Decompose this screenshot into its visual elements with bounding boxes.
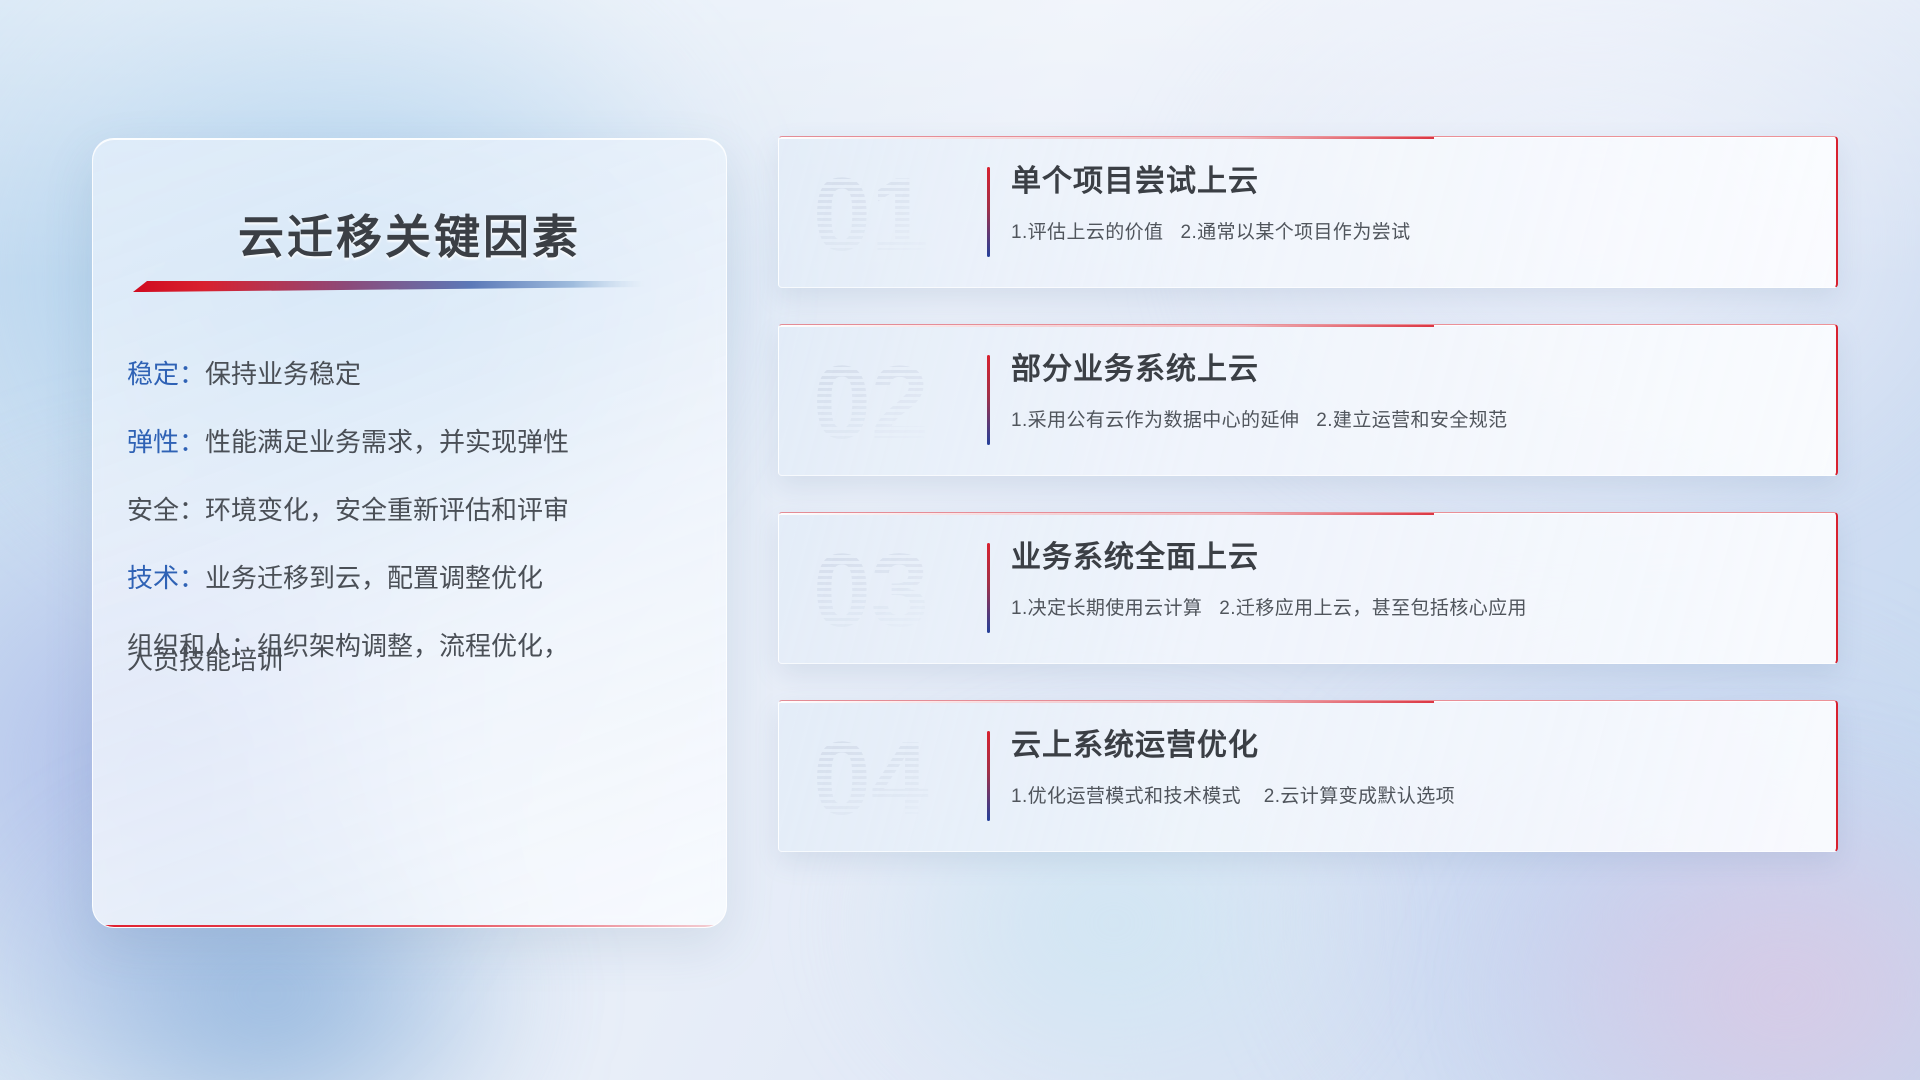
list-item: 稳定：保持业务稳定 <box>127 361 700 387</box>
title-accent-rule <box>133 281 645 292</box>
svg-text:03: 03 <box>813 534 929 642</box>
factor-label: 弹性： <box>127 427 205 457</box>
step-content: 业务系统全面上云 1.决定长期使用云计算 2.迁移应用上云，甚至包括核心应用 <box>1011 539 1796 620</box>
step-card-03[interactable]: 03 业务系统全面上云 1.决定长期使用云计算 2.迁移应用上云，甚至包括核心应… <box>778 512 1838 664</box>
step-heading: 业务系统全面上云 <box>1011 539 1796 577</box>
step-subtitle: 1.优化运营模式和技术模式 2.云计算变成默认选项 <box>1011 781 1796 808</box>
key-factor-list: 稳定：保持业务稳定 弹性：性能满足业务需求，并实现弹性 安全：环境变化，安全重新… <box>127 361 700 673</box>
key-factors-panel: 云迁移关键因素 稳定：保持业务稳定 <box>92 138 727 928</box>
step-divider <box>987 731 990 821</box>
factor-text: 业务迁移到云，配置调整优化 <box>205 563 543 593</box>
step-card-04[interactable]: 04 云上系统运营优化 1.优化运营模式和技术模式 2.云计算变成默认选项 <box>778 700 1838 852</box>
ghost-number-01-icon: 01 <box>811 158 961 266</box>
svg-text:02: 02 <box>813 346 929 454</box>
ghost-number-04-icon: 04 <box>811 722 961 830</box>
step-subtitle: 1.采用公有云作为数据中心的延伸 2.建立运营和安全规范 <box>1011 405 1796 432</box>
svg-text:01: 01 <box>813 158 929 266</box>
factor-text: 保持业务稳定 <box>205 359 361 389</box>
factor-label: 安全： <box>127 495 205 525</box>
step-divider <box>987 355 990 445</box>
slide-stage: 云迁移关键因素 稳定：保持业务稳定 <box>0 0 1920 1080</box>
ghost-number-03-icon: 03 <box>811 534 961 642</box>
list-item: 安全：环境变化，安全重新评估和评审 <box>127 497 700 523</box>
step-content: 云上系统运营优化 1.优化运营模式和技术模式 2.云计算变成默认选项 <box>1011 727 1796 808</box>
step-heading: 单个项目尝试上云 <box>1011 163 1796 201</box>
factor-text: 性能满足业务需求，并实现弹性 <box>205 427 569 457</box>
step-content: 单个项目尝试上云 1.评估上云的价值 2.通常以某个项目作为尝试 <box>1011 163 1796 244</box>
list-item: 组织和人：组织架构调整，流程优化， 人员技能培训 <box>127 633 700 673</box>
factor-label: 技术： <box>127 563 205 593</box>
factor-label: 稳定： <box>127 359 205 389</box>
list-item: 弹性：性能满足业务需求，并实现弹性 <box>127 429 700 455</box>
factor-text: 环境变化，安全重新评估和评审 <box>205 495 569 525</box>
migration-steps-list: 01 单个项目尝试上云 1.评估上云的价值 2.通常以某个项目作为尝试 <box>778 136 1838 852</box>
step-heading: 部分业务系统上云 <box>1011 351 1796 389</box>
step-card-02[interactable]: 02 部分业务系统上云 1.采用公有云作为数据中心的延伸 2.建立运营和安全规范 <box>778 324 1838 476</box>
step-card-01[interactable]: 01 单个项目尝试上云 1.评估上云的价值 2.通常以某个项目作为尝试 <box>778 136 1838 288</box>
step-subtitle: 1.决定长期使用云计算 2.迁移应用上云，甚至包括核心应用 <box>1011 593 1796 620</box>
step-content: 部分业务系统上云 1.采用公有云作为数据中心的延伸 2.建立运营和安全规范 <box>1011 351 1796 432</box>
svg-text:04: 04 <box>813 722 929 830</box>
step-heading: 云上系统运营优化 <box>1011 727 1796 765</box>
factor-text: 组织架构调整，流程优化， <box>257 631 569 661</box>
step-subtitle: 1.评估上云的价值 2.通常以某个项目作为尝试 <box>1011 217 1796 244</box>
step-divider <box>987 543 990 633</box>
step-divider <box>987 167 990 257</box>
ghost-number-02-icon: 02 <box>811 346 961 454</box>
list-item: 技术：业务迁移到云，配置调整优化 <box>127 565 700 591</box>
page-title: 云迁移关键因素 <box>93 201 726 267</box>
